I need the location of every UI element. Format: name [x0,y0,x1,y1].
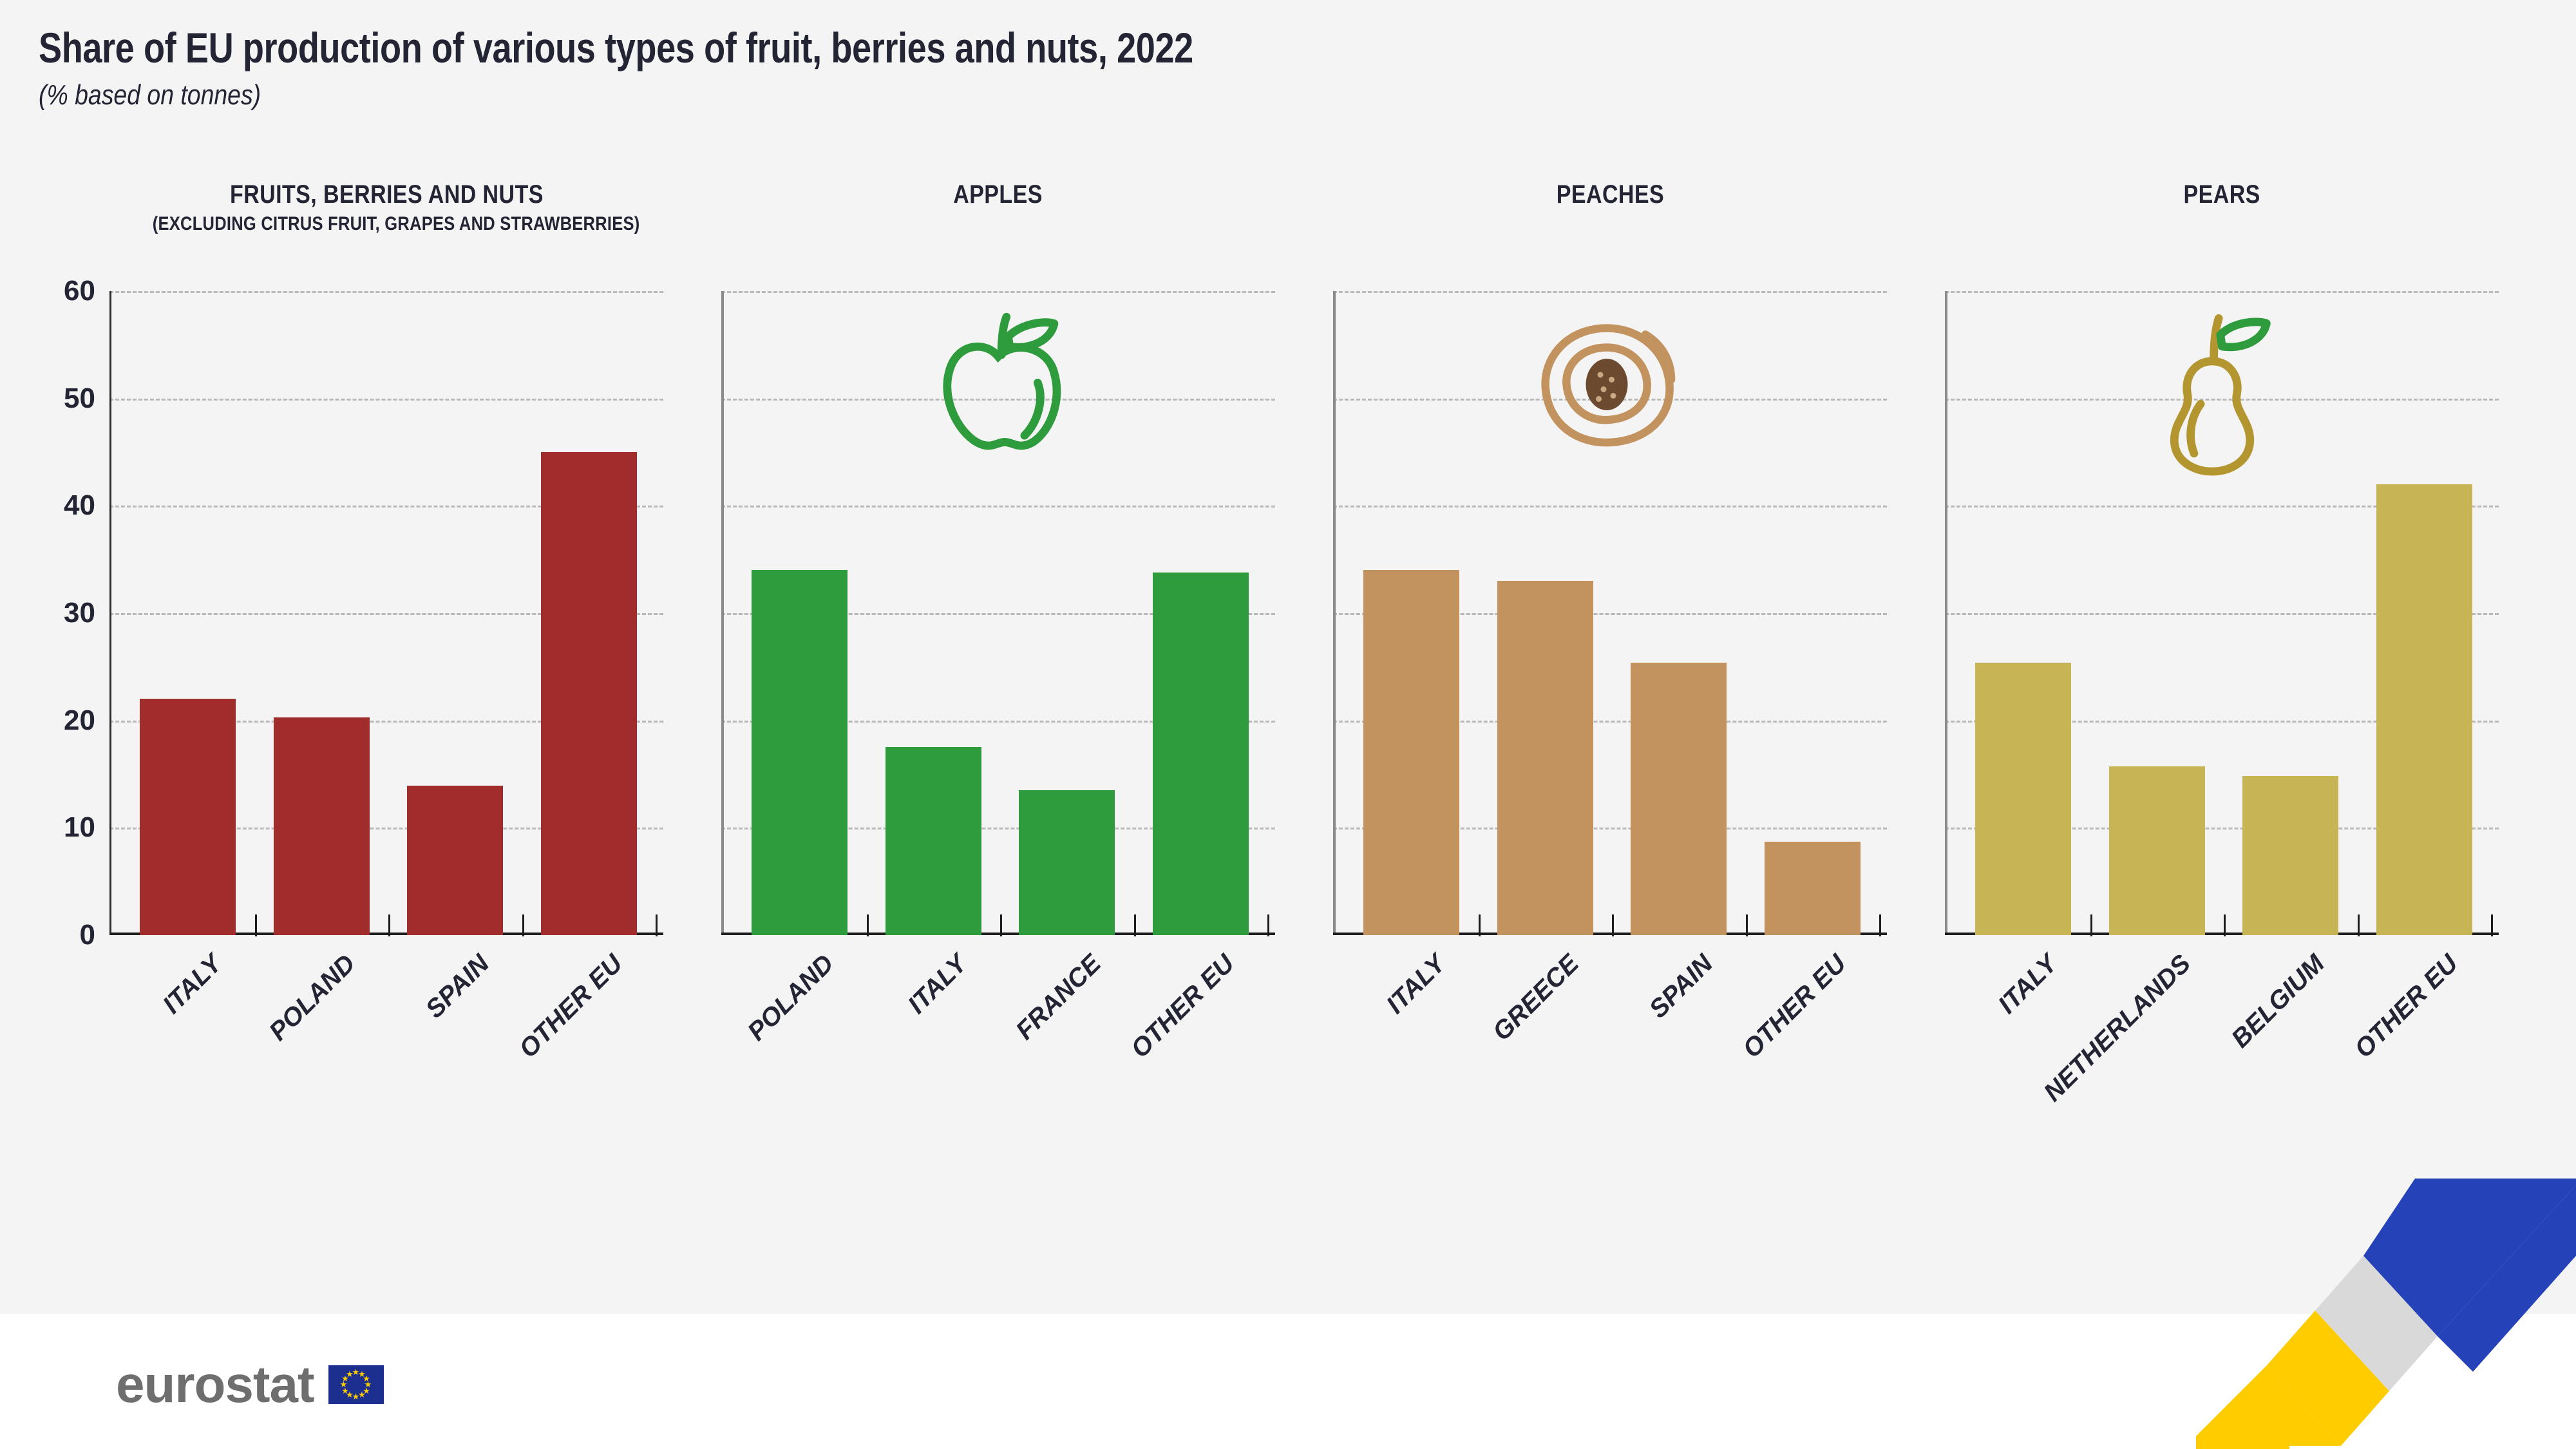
bar[interactable] [1631,663,1727,935]
x-axis-tick [2491,914,2493,936]
x-axis-tick [1267,914,1269,936]
x-axis-tick [2358,914,2360,936]
bar[interactable] [885,747,981,935]
x-axis-labels: ITALYGREECESPAINOTHER EU [1333,940,1887,1095]
x-axis-label: POLAND [742,949,839,1046]
x-axis-label: ITALY [1381,949,1451,1019]
x-axis-tick [2224,914,2226,936]
y-axis: 0102030405060 [0,180,103,953]
x-axis-label: OTHER EU [1126,949,1240,1064]
gridline [721,291,1275,293]
y-axis-tick-label: 10 [5,811,95,844]
peach-icon [1526,310,1687,462]
bar[interactable] [2376,484,2472,935]
x-axis-labels: ITALYNETHERLANDSBELGIUMOTHER EU [1945,940,2499,1095]
x-axis-label: POLAND [264,949,361,1046]
x-axis-label: OTHER EU [2349,949,2464,1064]
y-axis-line [1945,291,1947,935]
chart-subtitle: (% based on tonnes) [39,79,2119,111]
x-axis-label: ITALY [1993,949,2063,1019]
x-axis-tick [255,914,257,936]
x-axis-label: SPAIN [420,949,495,1024]
x-axis-label: OTHER EU [1738,949,1852,1064]
panel-title-box: PEARS [1945,180,2499,209]
x-axis-tick [1746,914,1748,936]
eurostat-logo: eurostat ★★★★★★★★★★★★ [116,1359,384,1410]
x-axis-label: FRANCE [1010,949,1107,1046]
chart-header: Share of EU production of various types … [39,26,2486,111]
y-axis-tick-label: 60 [5,275,95,307]
x-axis-label: NETHERLANDS [2039,949,2197,1108]
gridline [1333,506,1887,507]
bar[interactable] [140,699,236,935]
x-axis-tick [1479,914,1481,936]
chart-plot-area: 0102030405060 FRUITS, BERRIES AND NUTS(E… [0,180,2576,1095]
bar[interactable] [2109,766,2205,935]
x-axis-tick [2090,914,2092,936]
gridline [721,506,1275,507]
chart-footer: eurostat ★★★★★★★★★★★★ [0,1314,2576,1449]
panel-title-box: PEACHES [1333,180,1887,209]
x-axis-labels: ITALYPOLANDSPAINOTHER EU [109,940,663,1095]
eu-flag-icon: ★★★★★★★★★★★★ [328,1365,384,1404]
gridline [1333,291,1887,293]
x-axis-label: BELGIUM [2226,949,2330,1054]
chart-panel: PEARS ITALYNETHERLANDSBELGIUMOTHER EU [1945,180,2499,1095]
gridline [109,399,663,401]
x-axis-label: ITALY [157,949,227,1019]
x-axis-label: ITALY [903,949,973,1019]
chart-panel: APPLES POLANDITALYFRANCEOTHER EU [721,180,1275,1095]
y-axis-tick-label: 20 [5,705,95,737]
bar[interactable] [407,786,503,935]
x-axis-tick [1612,914,1614,936]
y-axis-line [721,291,724,935]
bar[interactable] [1153,573,1249,935]
y-axis-line [1333,291,1336,935]
x-axis-tick [867,914,869,936]
x-axis-tick [522,914,524,936]
panel-subtitle: (EXCLUDING CITRUS FRUIT, GRAPES AND STRA… [153,213,640,235]
x-axis-label: OTHER EU [514,949,629,1064]
apple-icon [914,310,1082,462]
bar[interactable] [1765,842,1861,935]
page-title: Share of EU production of various types … [39,26,2045,70]
y-axis-tick-label: 40 [5,489,95,522]
x-axis-tick [656,914,658,936]
panel-plot [721,291,1275,935]
panel-title: FRUITS, BERRIES AND NUTS [230,180,544,209]
x-axis-label: GREECE [1488,949,1585,1046]
panel-title-box: FRUITS, BERRIES AND NUTS(EXCLUDING CITRU… [109,180,663,235]
eu-star-icon: ★ [346,1370,354,1378]
x-axis-tick [1000,914,1002,936]
x-axis-label: SPAIN [1643,949,1718,1024]
x-axis-tick [1879,914,1881,936]
chart-panel: FRUITS, BERRIES AND NUTS(EXCLUDING CITRU… [109,180,663,1095]
bar[interactable] [2242,776,2338,935]
chart-panel: PEACHES ITALYGREECESPAINOTHER EU [1333,180,1887,1095]
y-axis-tick-label: 30 [5,597,95,629]
panel-title: APPLES [954,180,1043,209]
bar[interactable] [1019,790,1115,935]
panel-plot [1333,291,1887,935]
gridline [1945,291,2499,293]
eurostat-wordmark: eurostat [116,1359,314,1410]
panel-title-box: APPLES [721,180,1275,209]
x-axis-labels: POLANDITALYFRANCEOTHER EU [721,940,1275,1095]
x-axis-tick [388,914,390,936]
panel-title: PEACHES [1556,180,1663,209]
x-axis-tick [1134,914,1136,936]
y-axis-line [109,291,111,935]
bar[interactable] [274,717,370,935]
panel-plot [1945,291,2499,935]
panel-plot [109,291,663,935]
gridline [109,291,663,293]
pear-icon [2138,310,2286,481]
bar[interactable] [1975,663,2071,935]
y-axis-tick-label: 50 [5,383,95,415]
bar[interactable] [541,452,637,935]
bar[interactable] [1497,581,1593,935]
panel-title: PEARS [2183,180,2260,209]
bar[interactable] [752,570,848,935]
y-axis-tick-label: 0 [5,919,95,951]
bar[interactable] [1363,570,1459,935]
